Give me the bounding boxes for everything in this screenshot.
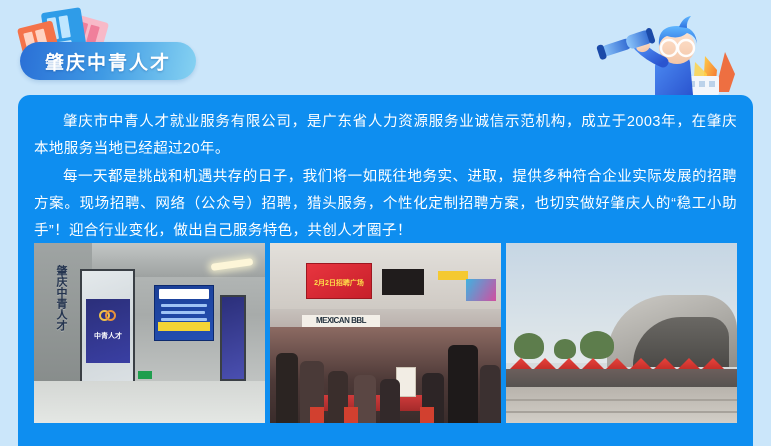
intro-paragraph-2: 每一天都是挑战和机遇共存的日子，我们将一如既往地务实、进取，提供多种符合企业实际… bbox=[34, 164, 737, 245]
office-entrance-photo[interactable]: 肇庆中青人才 中青人才 bbox=[34, 243, 265, 423]
poster-line bbox=[161, 311, 205, 314]
poster-text: 中青人才 bbox=[86, 331, 130, 341]
banner-text: 2月2日招聘广场 bbox=[307, 278, 371, 288]
pavement-line bbox=[506, 399, 737, 401]
led-screen bbox=[466, 279, 496, 301]
stool bbox=[310, 407, 324, 423]
person bbox=[448, 345, 478, 423]
logo-rings-icon bbox=[99, 310, 117, 326]
card-bar bbox=[59, 15, 71, 38]
page-title-pill: 肇庆中青人才 bbox=[20, 42, 196, 80]
ground bbox=[506, 387, 737, 423]
person bbox=[380, 379, 400, 423]
pavement-line bbox=[506, 411, 737, 413]
poster-header bbox=[159, 289, 209, 299]
indoor-job-fair-photo[interactable]: 2月2日招聘广场 MEXICAN BBL bbox=[270, 243, 501, 423]
exit-sign bbox=[138, 371, 152, 379]
shopfront-yellow-sign bbox=[438, 271, 468, 280]
poster-line bbox=[161, 318, 207, 321]
poster-line bbox=[161, 304, 207, 307]
event-banner: 2月2日招聘广场 bbox=[306, 263, 372, 299]
stool bbox=[420, 407, 434, 423]
ring bbox=[105, 310, 116, 321]
shopfront-dark bbox=[382, 269, 424, 295]
crowd bbox=[506, 369, 737, 389]
outdoor-job-fair-photo[interactable] bbox=[506, 243, 737, 423]
stool bbox=[344, 407, 358, 423]
floor bbox=[34, 381, 265, 423]
photo-gallery: 肇庆中青人才 中青人才 2月2日招聘广场 bbox=[34, 243, 737, 423]
page-title: 肇庆中青人才 bbox=[45, 48, 171, 75]
intro-paragraph-1: 肇庆市中青人才就业服务有限公司，是广东省人力资源服务业诚信示范机构，成立于200… bbox=[34, 109, 737, 163]
person bbox=[480, 365, 500, 423]
mascot-with-telescope-icon bbox=[593, 0, 743, 95]
person bbox=[276, 353, 298, 423]
blue-info-poster bbox=[154, 285, 214, 341]
page-header: 肇庆中青人才 bbox=[0, 0, 771, 95]
poster-highlight-bar bbox=[158, 322, 210, 331]
wall-signage-text: 肇庆中青人才 bbox=[46, 265, 68, 331]
navy-poster: 中青人才 bbox=[86, 299, 130, 363]
second-door bbox=[220, 295, 246, 381]
shop-sign: MEXICAN BBL bbox=[302, 315, 380, 327]
